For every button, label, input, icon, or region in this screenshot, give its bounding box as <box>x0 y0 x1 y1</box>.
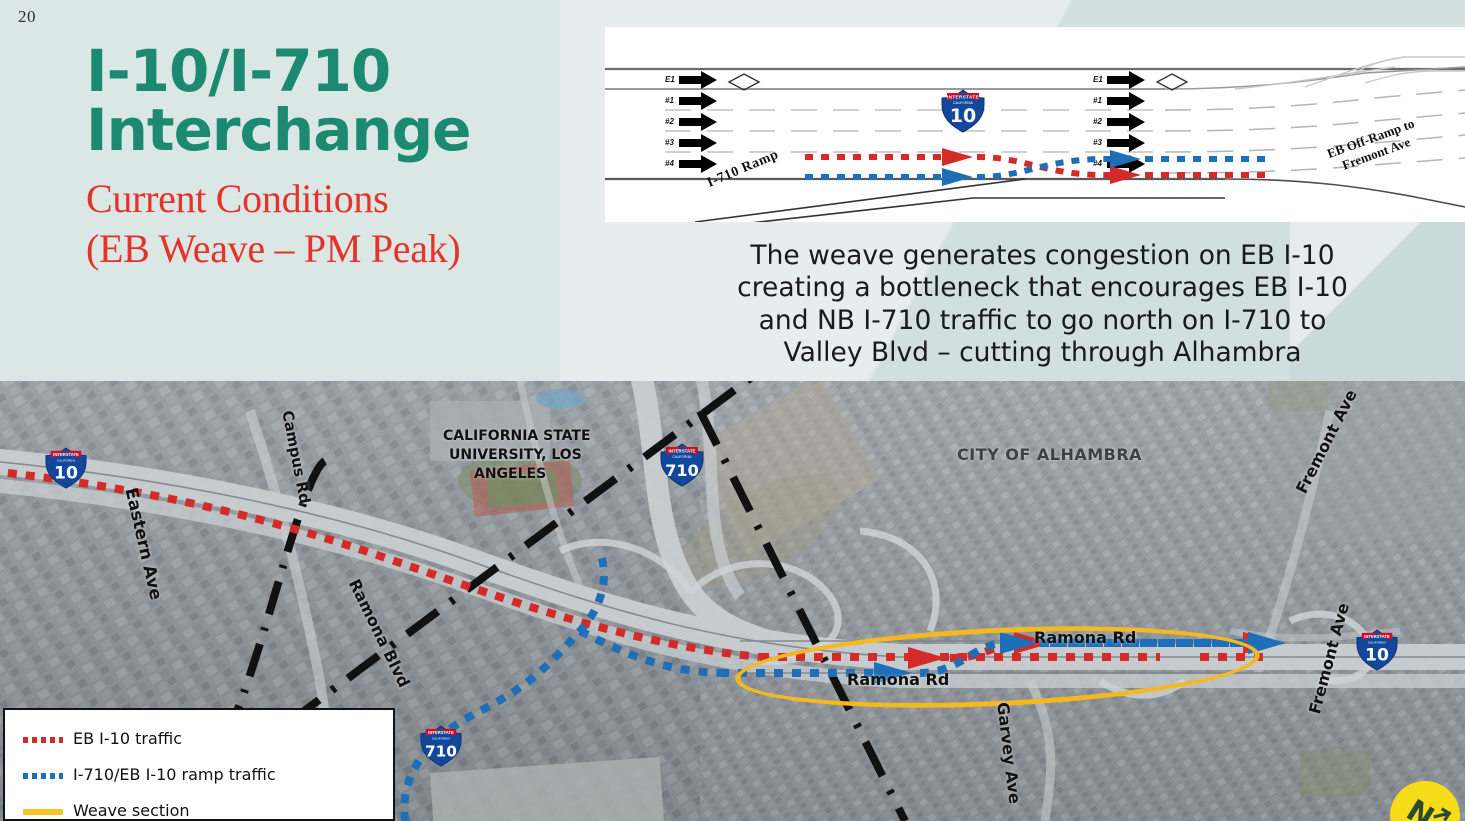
legend-swatch-blue-dotted <box>23 773 63 779</box>
map-shield-i10-west: INTERSTATE CALIFORNIA 10 <box>44 447 88 489</box>
map-shield-i710-south: INTERSTATE CALIFORNIA 710 <box>419 725 463 767</box>
legend-item-ramp: I-710/EB I-10 ramp traffic <box>5 758 393 794</box>
schematic-shield-i10: INTERSTATE CALIFORNIA 10 <box>940 89 986 133</box>
shield-number-10-west: 10 <box>54 464 78 484</box>
page-subtitle-line1: Current Conditions <box>86 174 606 224</box>
svg-text:10: 10 <box>950 105 976 127</box>
caption-line-2: creating a bottleneck that encourages EB… <box>735 272 1350 304</box>
label-csula-2: UNIVERSITY, LOS <box>449 447 582 463</box>
caption-text: The weave generates congestion on EB I-1… <box>735 240 1350 369</box>
caption-line-1: The weave generates congestion on EB I-1… <box>735 240 1350 272</box>
legend-swatch-red-dotted <box>23 737 63 743</box>
svg-text:INTERSTATE: INTERSTATE <box>947 95 979 100</box>
map-legend: EB I-10 traffic I-710/EB I-10 ramp traff… <box>3 708 395 821</box>
svg-text:CALIFORNIA: CALIFORNIA <box>672 455 692 459</box>
label-city-of-alhambra: CITY OF ALHAMBRA <box>957 445 1142 464</box>
red-arrowhead-mid <box>942 148 973 166</box>
svg-text:CALIFORNIA: CALIFORNIA <box>432 736 451 740</box>
caption-line-4: Valley Blvd – cutting through Alhambra <box>735 337 1350 369</box>
compass-rose: N <box>1390 781 1460 821</box>
map-shield-i710-north: INTERSTATE CALIFORNIA 710 <box>659 443 705 487</box>
compass-north-icon: N <box>1390 781 1460 821</box>
label-ramona-rd-upper: Ramona Rd <box>1034 628 1136 647</box>
schematic-traffic-flows <box>605 27 1465 222</box>
page-subtitle-line2: (EB Weave – PM Peak) <box>86 224 606 274</box>
page-number: 20 <box>18 7 36 27</box>
title-block: I-10/I-710 Interchange Current Condition… <box>86 42 606 274</box>
freeway-schematic-diagram: E1 #1 #2 #3 #4 E1 #1 #2 # <box>605 27 1465 222</box>
shield-number-710-north: 710 <box>665 461 698 480</box>
slide-header-panel: 20 I-10/I-710 Interchange Current Condit… <box>0 0 1465 381</box>
svg-text:CALIFORNIA: CALIFORNIA <box>1368 640 1387 644</box>
legend-item-eb-i10: EB I-10 traffic <box>5 722 393 758</box>
label-csula-3: ANGELES <box>474 466 546 482</box>
map-shield-i10-east: INTERSTATE CALIFORNIA 10 <box>1355 629 1399 671</box>
svg-text:CALIFORNIA: CALIFORNIA <box>57 458 76 462</box>
legend-item-weave: Weave section <box>5 794 393 821</box>
page-title-line2: Interchange <box>86 101 606 160</box>
page-title-line1: I-10/I-710 <box>86 42 606 101</box>
blue-arrowhead-right <box>1110 150 1141 168</box>
legend-label-ramp: I-710/EB I-10 ramp traffic <box>73 765 276 784</box>
label-ramona-rd-lower: Ramona Rd <box>847 670 949 689</box>
aerial-map[interactable]: CALIFORNIA STATE UNIVERSITY, LOS ANGELES… <box>0 381 1465 821</box>
legend-label-weave: Weave section <box>73 801 190 820</box>
caption-line-3: and NB I-710 traffic to go north on I-71… <box>735 305 1350 337</box>
shield-number-710-south: 710 <box>425 743 457 761</box>
legend-label-eb-i10: EB I-10 traffic <box>73 729 182 748</box>
svg-text:INTERSTATE: INTERSTATE <box>669 448 696 453</box>
label-csula-1: CALIFORNIA STATE <box>443 428 591 444</box>
blue-arrowhead-mid <box>942 168 973 186</box>
legend-swatch-yellow-solid <box>23 809 63 815</box>
svg-text:INTERSTATE: INTERSTATE <box>428 730 454 735</box>
red-arrowhead-right <box>1110 166 1141 184</box>
svg-text:INTERSTATE: INTERSTATE <box>53 452 79 457</box>
svg-text:INTERSTATE: INTERSTATE <box>1364 634 1390 639</box>
shield-number-10-east: 10 <box>1365 646 1389 666</box>
